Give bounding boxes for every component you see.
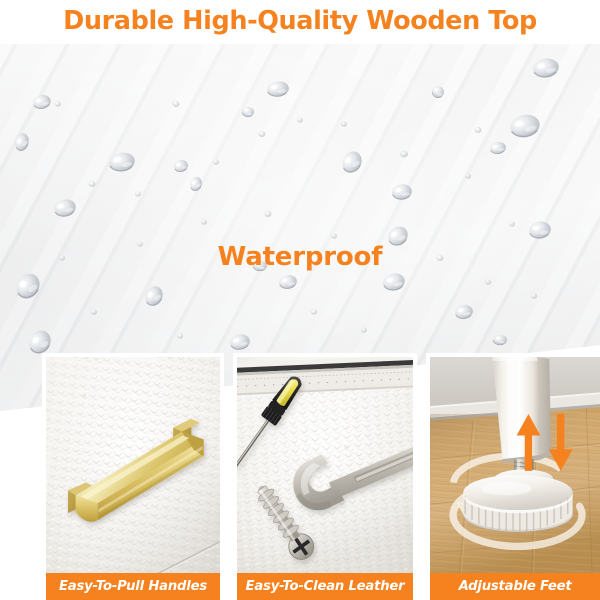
leveling-foot — [463, 469, 572, 532]
handle-photo — [46, 357, 220, 573]
adjustable-foot-illustration — [430, 357, 600, 573]
panel-caption-feet: Adjustable Feet — [430, 573, 600, 600]
page-title-text: Durable High-Quality Wooden Top — [63, 9, 537, 35]
feature-panel-handles[interactable]: Easy-To-Pull Handles — [42, 353, 224, 600]
tools-icon — [237, 357, 413, 573]
panel-caption-feet-text: Adjustable Feet — [459, 580, 572, 593]
panel-caption-handles-text: Easy-To-Pull Handles — [59, 580, 207, 593]
product-feature-infographic: Durable High-Quality Wooden Top — [0, 0, 600, 600]
feature-panel-leather[interactable]: Easy-To-Clean Leather — [233, 353, 417, 600]
adjustable-foot-photo — [430, 357, 600, 573]
page-title: Durable High-Quality Wooden Top — [0, 0, 600, 44]
furniture-leg — [493, 357, 552, 463]
leather-cleaning-photo — [237, 357, 413, 573]
gold-bar-handle-icon — [46, 357, 220, 573]
feature-panel-feet[interactable]: Adjustable Feet — [426, 353, 600, 600]
panel-caption-handles: Easy-To-Pull Handles — [46, 573, 220, 600]
panel-caption-leather-text: Easy-To-Clean Leather — [246, 580, 405, 593]
panel-caption-leather: Easy-To-Clean Leather — [237, 573, 413, 600]
